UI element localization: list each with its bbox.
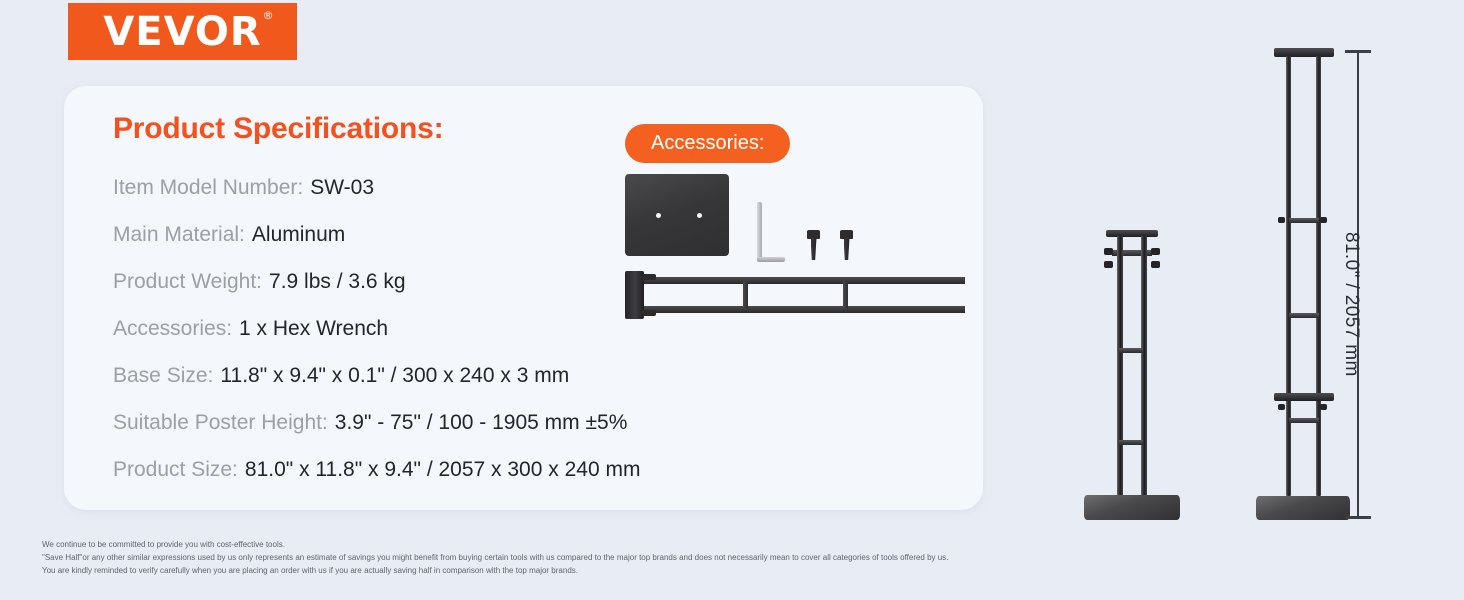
spec-row: Main Material: Aluminum	[113, 211, 640, 258]
plate-hole-icon	[697, 213, 702, 218]
footer-line: You are kindly reminded to verify carefu…	[42, 564, 1422, 577]
spec-value: Aluminum	[252, 223, 345, 247]
spec-label: Product Size:	[113, 458, 238, 482]
spec-row: Accessories: 1 x Hex Wrench	[113, 305, 640, 352]
base-plate-icon	[625, 174, 729, 256]
accessories-illustration	[625, 174, 965, 334]
page-title: Product Specifications:	[113, 112, 443, 146]
accessories-badge: Accessories:	[625, 124, 790, 163]
spec-value: 11.8" x 9.4" x 0.1" / 300 x 240 x 3 mm	[220, 364, 569, 388]
spec-label: Accessories:	[113, 317, 232, 341]
product-spec-page: VEVOR® Product Specifications: Item Mode…	[0, 0, 1464, 600]
footer-line: We continue to be committed to provide y…	[42, 538, 1422, 551]
spec-row: Product Weight: 7.9 lbs / 3.6 kg	[113, 258, 640, 305]
spec-row: Suitable Poster Height: 3.9" - 75" / 100…	[113, 399, 640, 446]
spec-list: Item Model Number: SW-03 Main Material: …	[113, 164, 640, 493]
bolt-icon	[840, 230, 853, 260]
spec-row: Base Size: 11.8" x 9.4" x 0.1" / 300 x 2…	[113, 352, 640, 399]
spec-row: Product Size: 81.0" x 11.8" x 9.4" / 205…	[113, 446, 640, 493]
dimension-label: 81.0" / 2057 mm	[1340, 232, 1362, 377]
spec-label: Suitable Poster Height:	[113, 411, 328, 435]
product-image-stand-side	[1256, 48, 1350, 520]
spec-label: Main Material:	[113, 223, 245, 247]
spec-value: 1 x Hex Wrench	[239, 317, 388, 341]
footer-line: "Save Half"or any other similar expressi…	[42, 551, 1422, 564]
spec-label: Product Weight:	[113, 270, 262, 294]
hex-wrench-icon	[757, 202, 787, 262]
dimension-tick-bottom	[1345, 516, 1371, 519]
spec-label: Item Model Number:	[113, 176, 303, 200]
rail-assembly-icon	[625, 271, 965, 319]
registered-trademark-icon: ®	[263, 10, 275, 21]
bolt-icon	[807, 230, 820, 260]
vevor-logo: VEVOR®	[68, 3, 297, 60]
spec-row: Item Model Number: SW-03	[113, 164, 640, 211]
spec-value: 3.9" - 75" / 100 - 1905 mm ±5%	[335, 411, 628, 435]
spec-value: 81.0" x 11.8" x 9.4" / 2057 x 300 x 240 …	[245, 458, 641, 482]
footer-disclaimer: We continue to be committed to provide y…	[42, 538, 1422, 577]
plate-hole-icon	[656, 213, 661, 218]
spec-value: SW-03	[310, 176, 374, 200]
spec-value: 7.9 lbs / 3.6 kg	[269, 270, 406, 294]
product-image-stand-front	[1084, 228, 1180, 520]
brand-name: VEVOR®	[103, 12, 261, 52]
spec-label: Base Size:	[113, 364, 213, 388]
specifications-card: Product Specifications: Item Model Numbe…	[64, 86, 983, 510]
